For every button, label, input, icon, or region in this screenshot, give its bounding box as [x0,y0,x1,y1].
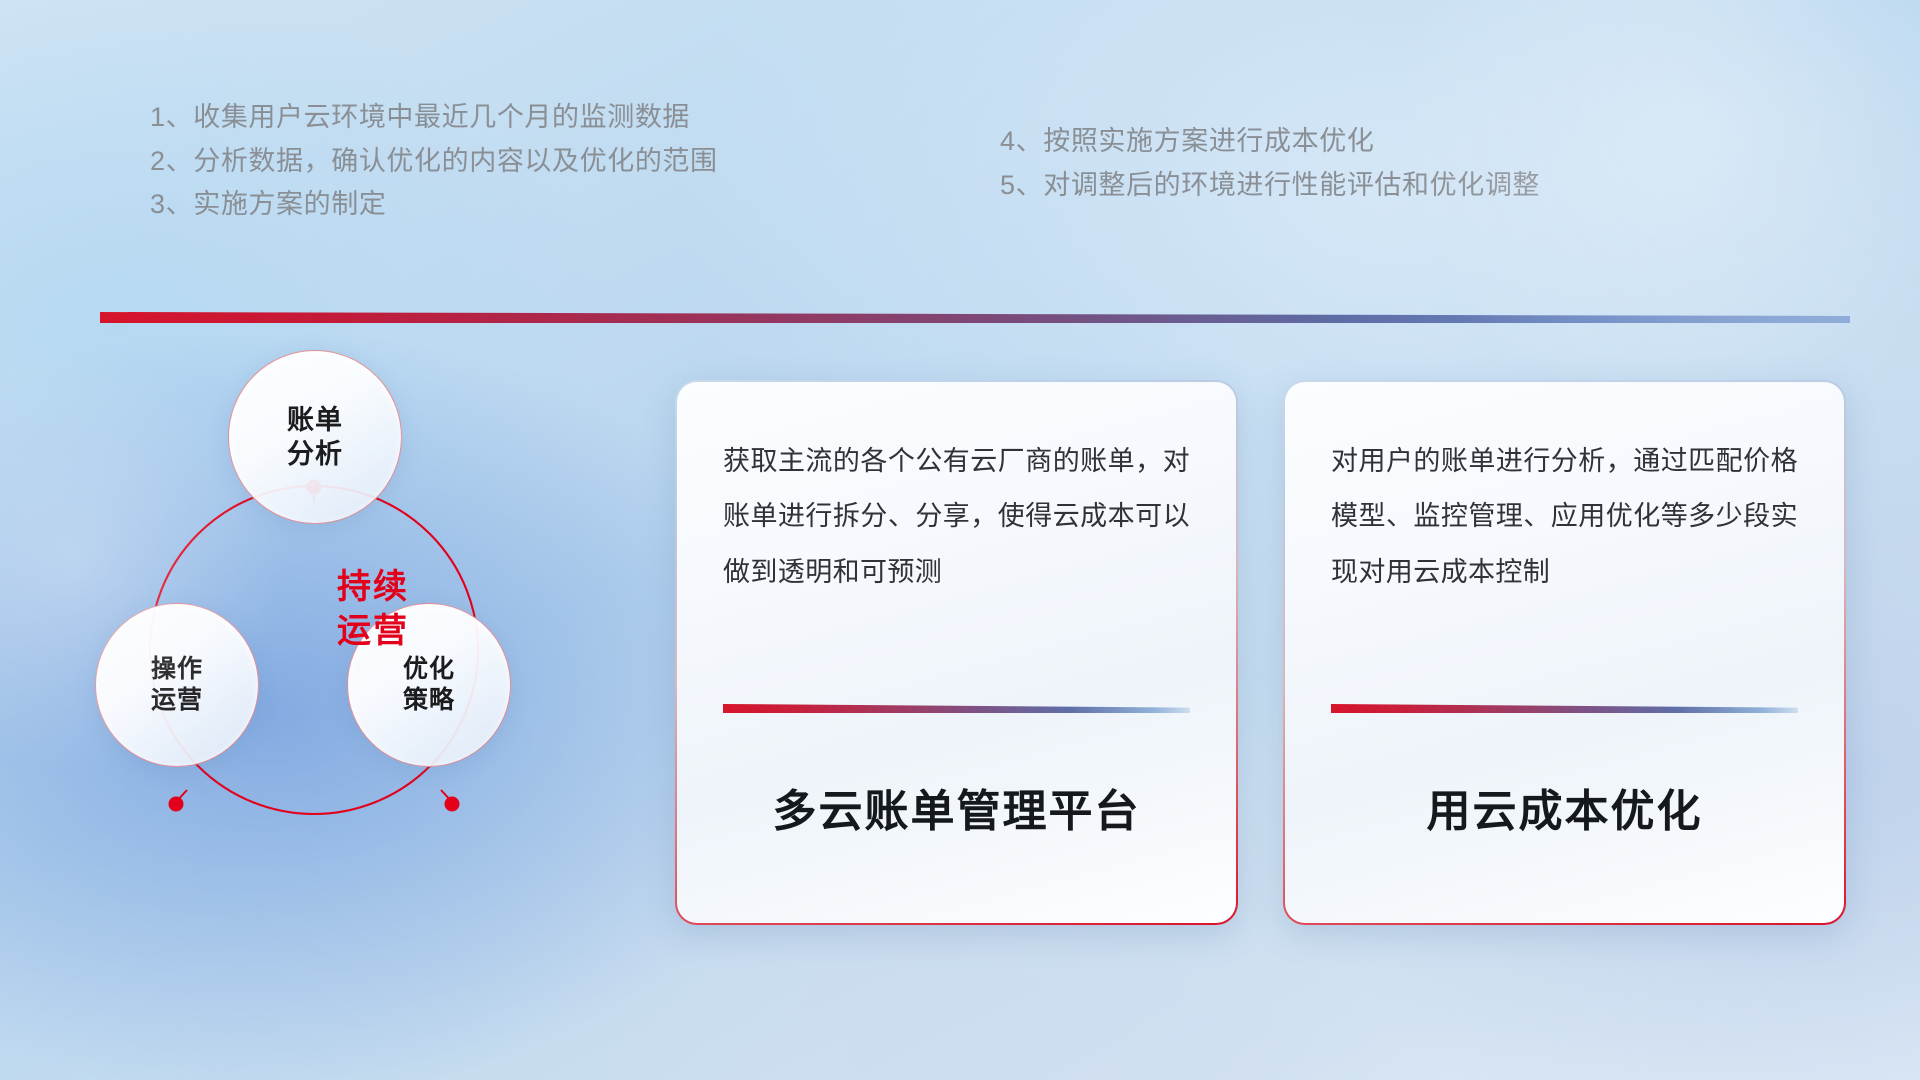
process-steps-left: 1、收集用户云环境中最近几个月的监测数据 2、分析数据，确认优化的内容以及优化的… [150,96,850,227]
venn-bubble-optimization-strategy-line2: 策略 [403,685,455,717]
process-step-1: 1、收集用户云环境中最近几个月的监测数据 [150,96,850,140]
venn-center-label-line1: 持续 [293,565,453,609]
process-step-5: 5、对调整后的环境进行性能评估和优化调整 [1000,164,1760,208]
venn-bubble-billing-analysis-line1: 账单 [287,403,343,437]
venn-node-dot-right [445,797,460,812]
venn-center-label: 持续 运营 [293,565,453,653]
venn-diagram: 账单 分析 操作 运营 优化 策略 持续 运营 [95,350,615,850]
venn-node-dot-left [169,797,184,812]
info-card-multicloud-billing-inner: 获取主流的各个公有云厂商的账单，对账单进行拆分、分享，使得云成本可以做到透明和可… [677,382,1236,923]
info-card-multicloud-billing-body: 获取主流的各个公有云厂商的账单，对账单进行拆分、分享，使得云成本可以做到透明和可… [723,434,1190,666]
process-steps-right: 4、按照实施方案进行成本优化 5、对调整后的环境进行性能评估和优化调整 [1000,120,1760,207]
venn-bubble-billing-analysis[interactable]: 账单 分析 [228,350,402,524]
slide-canvas: 1、收集用户云环境中最近几个月的监测数据 2、分析数据，确认优化的内容以及优化的… [0,0,1920,1080]
venn-bubble-operations-line2: 运营 [151,685,203,717]
process-step-2: 2、分析数据，确认优化的内容以及优化的范围 [150,140,850,184]
info-card-multicloud-billing[interactable]: 获取主流的各个公有云厂商的账单，对账单进行拆分、分享，使得云成本可以做到透明和可… [675,380,1238,925]
venn-center-label-line2: 运营 [293,609,453,653]
process-step-3: 3、实施方案的制定 [150,183,850,227]
venn-bubble-billing-analysis-line2: 分析 [287,437,343,471]
section-divider [100,312,1850,323]
venn-bubble-optimization-strategy-line1: 优化 [403,654,455,686]
venn-bubble-operations[interactable]: 操作 运营 [95,603,259,767]
info-card-cost-optimization-inner: 对用户的账单进行分析，通过匹配价格模型、监控管理、应用优化等多少段实现对用云成本… [1285,382,1844,923]
info-card-multicloud-billing-title: 多云账单管理平台 [723,775,1190,839]
divider-bar [100,312,1850,323]
process-step-4: 4、按照实施方案进行成本优化 [1000,120,1760,164]
venn-bubble-operations-line1: 操作 [151,654,203,686]
info-card-cost-optimization-title: 用云成本优化 [1331,775,1798,839]
info-card-cost-optimization-body: 对用户的账单进行分析，通过匹配价格模型、监控管理、应用优化等多少段实现对用云成本… [1331,434,1798,666]
info-card-cost-optimization[interactable]: 对用户的账单进行分析，通过匹配价格模型、监控管理、应用优化等多少段实现对用云成本… [1283,380,1846,925]
info-card-multicloud-billing-rule [723,704,1190,713]
info-card-cost-optimization-rule [1331,704,1798,713]
